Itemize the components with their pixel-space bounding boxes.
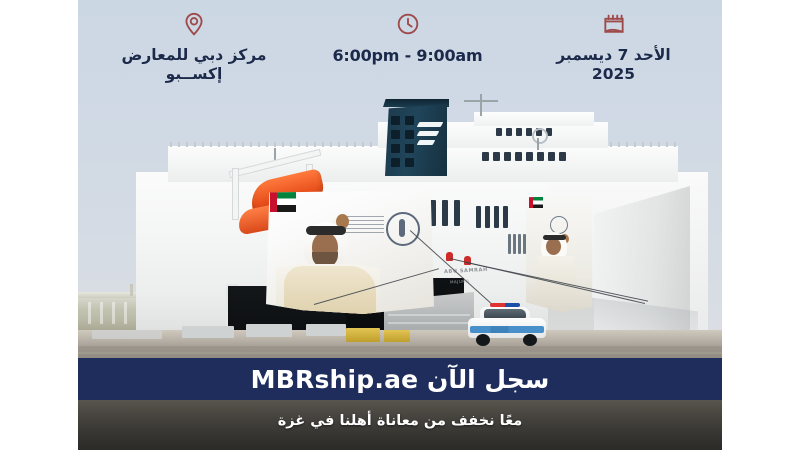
info-date-line-2: 2025 — [592, 65, 635, 84]
info-item-time: 6:00pm - 9:00am — [315, 6, 500, 66]
event-info-bar: الأحد 7 ديسمبر 2025 6:00pm - 9:00am — [78, 0, 722, 102]
shipping-line-logo-icon — [418, 122, 444, 152]
hull-portrait-agal — [543, 235, 566, 240]
info-location-line-2: إكســبو — [166, 65, 223, 84]
letterbox-right — [722, 0, 800, 450]
info-time-value: 6:00pm - 9:00am — [333, 46, 483, 66]
poster-root: ABU SAMRAH MAJURO — [0, 0, 800, 450]
suv-livery-stripe — [470, 326, 544, 333]
info-location-line-1: مركز دبي للمعارض — [121, 46, 266, 65]
radar-antenna-icon — [532, 128, 548, 144]
portrait-banner-hull — [526, 194, 592, 312]
quay-equipment-3 — [306, 324, 346, 336]
letterbox-left — [0, 0, 78, 450]
deck-window-row-upper — [482, 152, 566, 161]
clock-icon — [395, 6, 421, 42]
antenna-post — [537, 138, 539, 150]
funnel-window-grid — [391, 116, 414, 167]
deck-window-row-lower — [476, 206, 508, 228]
deck-window-row-midship — [430, 200, 460, 226]
suv-windows — [484, 309, 526, 318]
suv-wheel-front — [476, 334, 490, 346]
info-item-date: الأحد 7 ديسمبر 2025 — [521, 6, 706, 84]
quay-yellow-machine-2 — [384, 330, 410, 342]
quay-yellow-machine-1 — [346, 328, 380, 342]
info-item-location: مركز دبي للمعارض إكســبو — [94, 6, 294, 84]
uae-flag-icon-small — [529, 197, 543, 208]
cta-label: سجل الآن MBRship.ae — [251, 365, 550, 394]
quay-equipment-4 — [92, 330, 162, 339]
calendar-icon — [601, 6, 627, 42]
info-date-line-1: الأحد 7 ديسمبر — [556, 46, 671, 65]
quay-equipment-1 — [182, 326, 234, 338]
emblem-icon — [386, 212, 420, 246]
portrait-banner-main — [266, 190, 434, 314]
police-suv — [468, 306, 546, 344]
quay-equipment-2 — [246, 324, 292, 337]
ship-bridge-roof — [474, 112, 594, 126]
subtitle-bar: معًا نخفف من معاناة أهلنا في غزة — [78, 404, 722, 438]
cta-banner[interactable]: سجل الآن MBRship.ae — [78, 358, 722, 400]
subtitle-label: معًا نخفف من معاناة أهلنا في غزة — [278, 413, 523, 429]
portrait-agal — [306, 226, 346, 235]
hull-portrait-face — [546, 238, 561, 255]
suv-wheel-rear — [523, 334, 537, 346]
uae-flag-icon — [270, 192, 296, 212]
map-pin-icon — [181, 6, 207, 42]
poster-image-area: ABU SAMRAH MAJURO — [78, 0, 722, 450]
